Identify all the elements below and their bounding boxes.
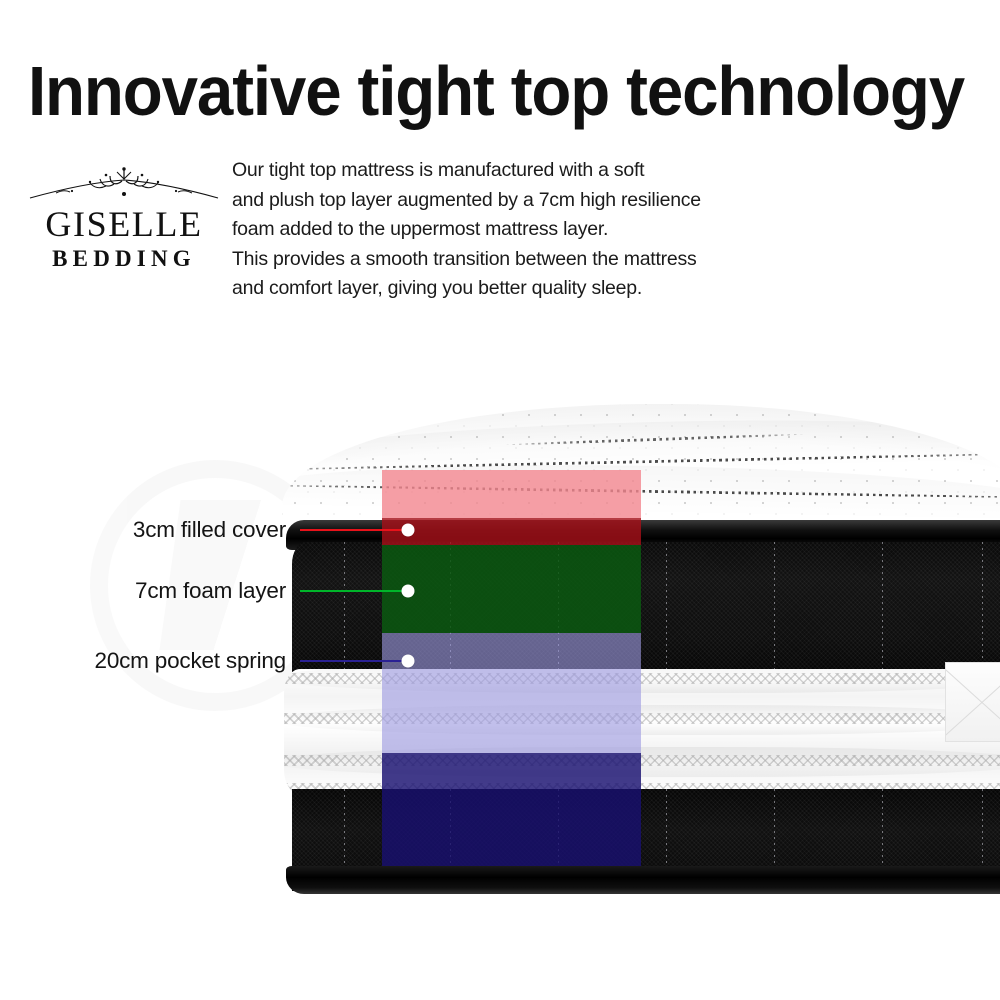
callout-endpoint-dot (402, 524, 415, 537)
callout-label: 7cm foam layer (135, 578, 300, 604)
mattress-bottom-piping (286, 866, 1000, 894)
panel-stitch (774, 542, 775, 672)
panel-stitch (982, 542, 983, 672)
product-description: Our tight top mattress is manufactured w… (232, 156, 752, 304)
infographic-canvas: Innovative tight top technology GISELLE … (0, 0, 1000, 1000)
callout-label: 20cm pocket spring (95, 648, 301, 674)
description-line: foam added to the uppermost mattress lay… (232, 215, 752, 245)
description-line: and plush top layer augmented by a 7cm h… (232, 186, 752, 216)
page-title: Innovative tight top technology (28, 54, 926, 128)
crown-flourish-icon (26, 166, 222, 208)
panel-stitch (558, 542, 559, 672)
zigzag-stitch (284, 755, 1000, 766)
brand-name-secondary: BEDDING (26, 246, 222, 272)
description-line: and comfort layer, giving you better qua… (232, 274, 752, 304)
mattress-side-handle (945, 662, 1000, 742)
callout-foam-layer: 7cm foam layer (300, 578, 408, 604)
callout-pocket-spring: 20cm pocket spring (300, 648, 408, 674)
callout-leader-line (300, 660, 408, 662)
callout-filled-cover: 3cm filled cover (300, 517, 408, 543)
callout-endpoint-dot (402, 655, 415, 668)
zigzag-stitch (284, 713, 1000, 724)
panel-stitch (450, 542, 451, 672)
brand-logo: GISELLE BEDDING (26, 166, 222, 286)
callout-leader-line (300, 529, 408, 531)
callout-leader-line (300, 590, 408, 592)
callout-endpoint-dot (402, 585, 415, 598)
description-line: This provides a smooth transition betwee… (232, 245, 752, 275)
mattress-pocket-spring-band (284, 669, 1000, 794)
panel-stitch (882, 542, 883, 672)
zigzag-stitch (284, 673, 1000, 684)
brand-name-primary: GISELLE (26, 204, 222, 244)
panel-stitch (666, 542, 667, 672)
description-line: Our tight top mattress is manufactured w… (232, 156, 752, 186)
callout-label: 3cm filled cover (133, 517, 300, 543)
